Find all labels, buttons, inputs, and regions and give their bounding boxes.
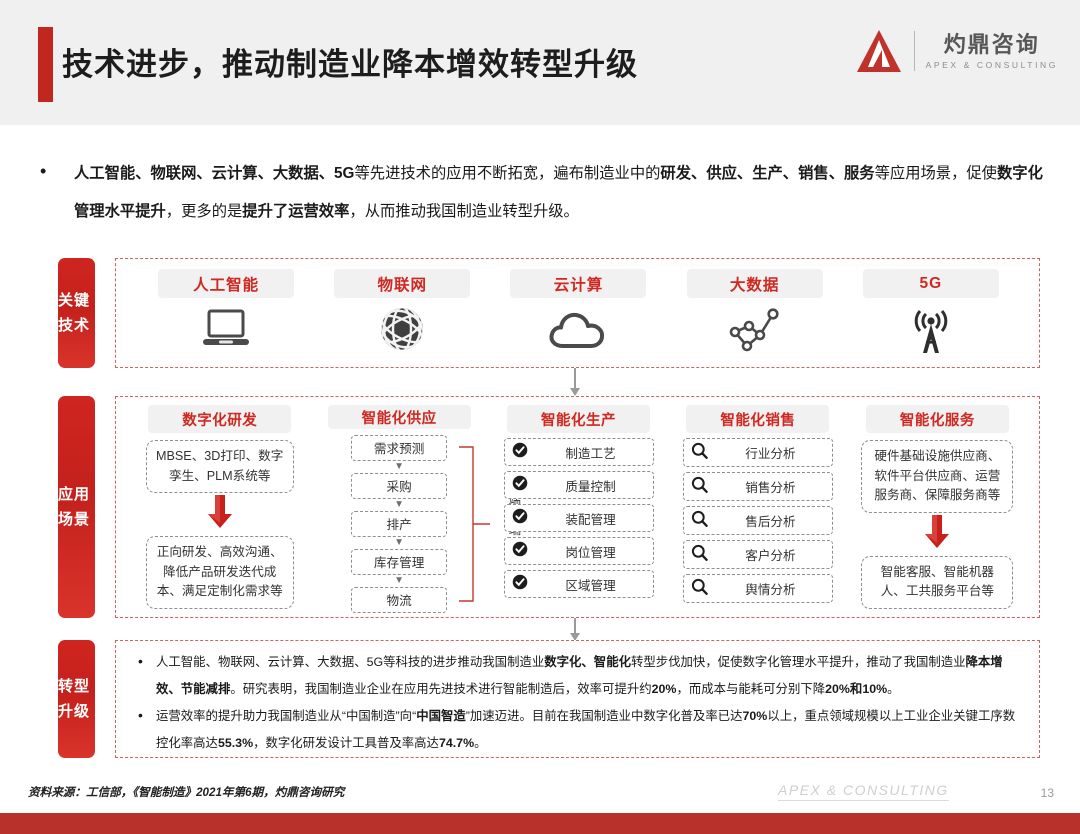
section-pill-app-scene: 应用场景 <box>58 396 95 618</box>
list-item-label: 质量控制 <box>536 476 646 495</box>
app-scene-column: 数字化研发MBSE、3D打印、数字孪生、PLM系统等正向研发、高效沟通、降低产品… <box>130 405 309 613</box>
bullet-marker: • <box>138 702 143 729</box>
arrow-wrap <box>924 515 950 554</box>
list-item-label: 装配管理 <box>536 509 646 528</box>
list-item-label: 销售分析 <box>716 477 825 496</box>
app-scene-columns: 数字化研发MBSE、3D打印、数字孪生、PLM系统等正向研发、高效沟通、降低产品… <box>116 405 1041 613</box>
app-scene-list-item[interactable]: 岗位管理 <box>504 537 654 565</box>
logo-name-en: APEX & CONSULTING <box>926 60 1058 70</box>
antenna-tower-icon <box>906 303 956 360</box>
supply-flow-step[interactable]: 采购 <box>351 473 447 499</box>
key-tech-icon-wrap <box>547 304 609 358</box>
key-tech-item[interactable]: 人工智能 <box>152 269 300 358</box>
app-scene-list-item[interactable]: 销售分析 <box>683 472 833 501</box>
logo-name-cn: 灼鼎咨询 <box>944 32 1040 57</box>
app-scene-column: 智能化服务硬件基础设施供应商、软件平台供应商、运营服务商、保障服务商等智能客服、… <box>848 405 1027 613</box>
key-tech-row: 人工智能物联网云计算大数据5G <box>116 269 1041 364</box>
footer-bar <box>0 813 1080 834</box>
app-scene-list-item[interactable]: 质量控制 <box>504 471 654 499</box>
list-item-label: 行业分析 <box>716 443 825 462</box>
key-tech-item[interactable]: 物联网 <box>328 269 476 358</box>
app-scene-input-box: MBSE、3D打印、数字孪生、PLM系统等 <box>146 440 294 493</box>
app-scene-list-item[interactable]: 舆情分析 <box>683 574 833 603</box>
flow-caret-icon: ▼ <box>394 462 404 472</box>
key-tech-label: 云计算 <box>510 269 646 298</box>
app-scene-column: 智能化销售行业分析销售分析售后分析客户分析舆情分析 <box>668 405 847 613</box>
app-scene-output-box: 正向研发、高效沟通、降低产品研发迭代成本、满足定制化需求等 <box>146 536 294 609</box>
lead-text: 人工智能、物联网、云计算、大数据、5G等先进技术的应用不断拓宽，遍布制造业中的研… <box>74 155 1056 231</box>
app-scene-list-item[interactable]: 行业分析 <box>683 438 833 467</box>
app-scene-output-box: 智能客服、智能机器人、工共服务平台等 <box>861 556 1013 609</box>
transform-panel: •人工智能、物联网、云计算、大数据、5G等科技的进步推动我国制造业数字化、智能化… <box>115 640 1040 758</box>
app-scene-column: 智能化生产制造工艺质量控制装配管理岗位管理区域管理 <box>489 405 668 613</box>
flow-caret-icon: ▼ <box>394 538 404 548</box>
check-circle-icon <box>512 475 528 496</box>
key-tech-item[interactable]: 大数据 <box>681 269 829 358</box>
company-logo: 灼鼎咨询 APEX & CONSULTING <box>855 20 1058 82</box>
transform-bullet: •运营效率的提升助力我国制造业从“中国制造”向“中国智造”加速迈进。目前在我国制… <box>130 703 1025 757</box>
cloud-icon <box>547 306 609 357</box>
supply-flow-step[interactable]: 排产 <box>351 511 447 537</box>
search-icon <box>691 544 708 566</box>
transform-bullet: •人工智能、物联网、云计算、大数据、5G等科技的进步推动我国制造业数字化、智能化… <box>130 649 1025 703</box>
title-accent-bar <box>38 27 53 102</box>
page-number: 13 <box>1041 786 1054 800</box>
lead-bullet: • <box>40 152 46 190</box>
key-tech-icon-wrap <box>727 304 783 358</box>
app-scene-list-item[interactable]: 装配管理 <box>504 504 654 532</box>
app-scene-panel: 数字化研发MBSE、3D打印、数字孪生、PLM系统等正向研发、高效沟通、降低产品… <box>115 396 1040 618</box>
laptop-icon <box>199 305 253 358</box>
source-note: 资料来源：工信部，《智能制造》2021年第6期，灼鼎咨询研究 <box>28 784 344 800</box>
key-tech-label: 5G <box>863 269 999 298</box>
section-pill-key-tech: 关键技术 <box>58 258 95 368</box>
lead-paragraph: • 人工智能、物联网、云计算、大数据、5G等先进技术的应用不断拓宽，遍布制造业中… <box>26 155 1056 231</box>
key-tech-label: 人工智能 <box>158 269 294 298</box>
bracket-icon <box>457 445 493 603</box>
search-icon <box>691 442 708 464</box>
key-tech-icon-wrap <box>376 304 428 358</box>
supply-flow: 需求预测▼采购▼排产▼库存管理▼物流 <box>351 435 447 613</box>
key-tech-label: 物联网 <box>334 269 470 298</box>
page-title: 技术进步，推动制造业降本增效转型升级 <box>62 36 802 94</box>
transform-bullet-text: 运营效率的提升助力我国制造业从“中国制造”向“中国智造”加速迈进。目前在我国制造… <box>156 709 1015 750</box>
key-tech-label: 大数据 <box>687 269 823 298</box>
app-scene-list-item[interactable]: 区域管理 <box>504 570 654 598</box>
check-circle-icon <box>512 442 528 463</box>
list-item-label: 区域管理 <box>536 575 646 594</box>
search-icon <box>691 510 708 532</box>
supply-flow-step[interactable]: 物流 <box>351 587 447 613</box>
transform-bullets: •人工智能、物联网、云计算、大数据、5G等科技的进步推动我国制造业数字化、智能化… <box>130 649 1025 757</box>
slide: 技术进步，推动制造业降本增效转型升级 灼鼎咨询 APEX & CONSULTIN… <box>0 0 1080 834</box>
check-circle-icon <box>512 574 528 595</box>
check-circle-icon <box>512 508 528 529</box>
logo-divider <box>914 31 915 71</box>
logo-text: 灼鼎咨询 APEX & CONSULTING <box>926 32 1058 70</box>
app-scene-column-title: 智能化销售 <box>686 405 829 433</box>
list-item-label: 岗位管理 <box>536 542 646 561</box>
app-scene-input-box: 硬件基础设施供应商、软件平台供应商、运营服务商、保障服务商等 <box>861 440 1013 513</box>
globe-network-icon <box>376 303 428 360</box>
app-scene-list-item[interactable]: 售后分析 <box>683 506 833 535</box>
connector-arrow-2 <box>574 618 576 634</box>
flow-caret-icon: ▼ <box>394 500 404 510</box>
bullet-marker: • <box>138 648 143 675</box>
watermark: APEX & CONSULTING <box>778 782 949 801</box>
red-down-arrow-icon <box>924 515 950 554</box>
list-item-label: 客户分析 <box>716 545 825 564</box>
supply-flow-step[interactable]: 库存管理 <box>351 549 447 575</box>
app-scene-list-item[interactable]: 制造工艺 <box>504 438 654 466</box>
app-scene-column-title: 智能化供应 <box>328 405 471 429</box>
app-scene-column: 智能化供应需求预测▼采购▼排产▼库存管理▼物流端到端 <box>309 405 488 613</box>
node-graph-icon <box>727 304 783 359</box>
supply-flow-step[interactable]: 需求预测 <box>351 435 447 461</box>
key-tech-icon-wrap <box>199 304 253 358</box>
key-tech-item[interactable]: 5G <box>857 269 1005 358</box>
list-item-label: 制造工艺 <box>536 443 646 462</box>
app-scene-list-item[interactable]: 客户分析 <box>683 540 833 569</box>
key-tech-panel: 人工智能物联网云计算大数据5G <box>115 258 1040 368</box>
arrow-wrap <box>207 495 233 534</box>
flow-caret-icon: ▼ <box>394 576 404 586</box>
check-circle-icon <box>512 541 528 562</box>
list-item-label: 售后分析 <box>716 511 825 530</box>
key-tech-icon-wrap <box>906 304 956 358</box>
app-scene-column-title: 智能化服务 <box>866 405 1009 433</box>
list-item-label: 舆情分析 <box>716 579 825 598</box>
transform-bullet-text: 人工智能、物联网、云计算、大数据、5G等科技的进步推动我国制造业数字化、智能化转… <box>156 655 1003 696</box>
red-down-arrow-icon <box>207 495 233 534</box>
app-scene-column-title: 数字化研发 <box>148 405 291 433</box>
connector-arrow-1 <box>574 368 576 389</box>
key-tech-item[interactable]: 云计算 <box>504 269 652 358</box>
search-icon <box>691 476 708 498</box>
slide-header: 技术进步，推动制造业降本增效转型升级 灼鼎咨询 APEX & CONSULTIN… <box>0 0 1080 125</box>
triangle-logo-icon <box>855 28 903 74</box>
section-pill-transform: 转型升级 <box>58 640 95 758</box>
search-icon <box>691 578 708 600</box>
app-scene-column-title: 智能化生产 <box>507 405 650 433</box>
